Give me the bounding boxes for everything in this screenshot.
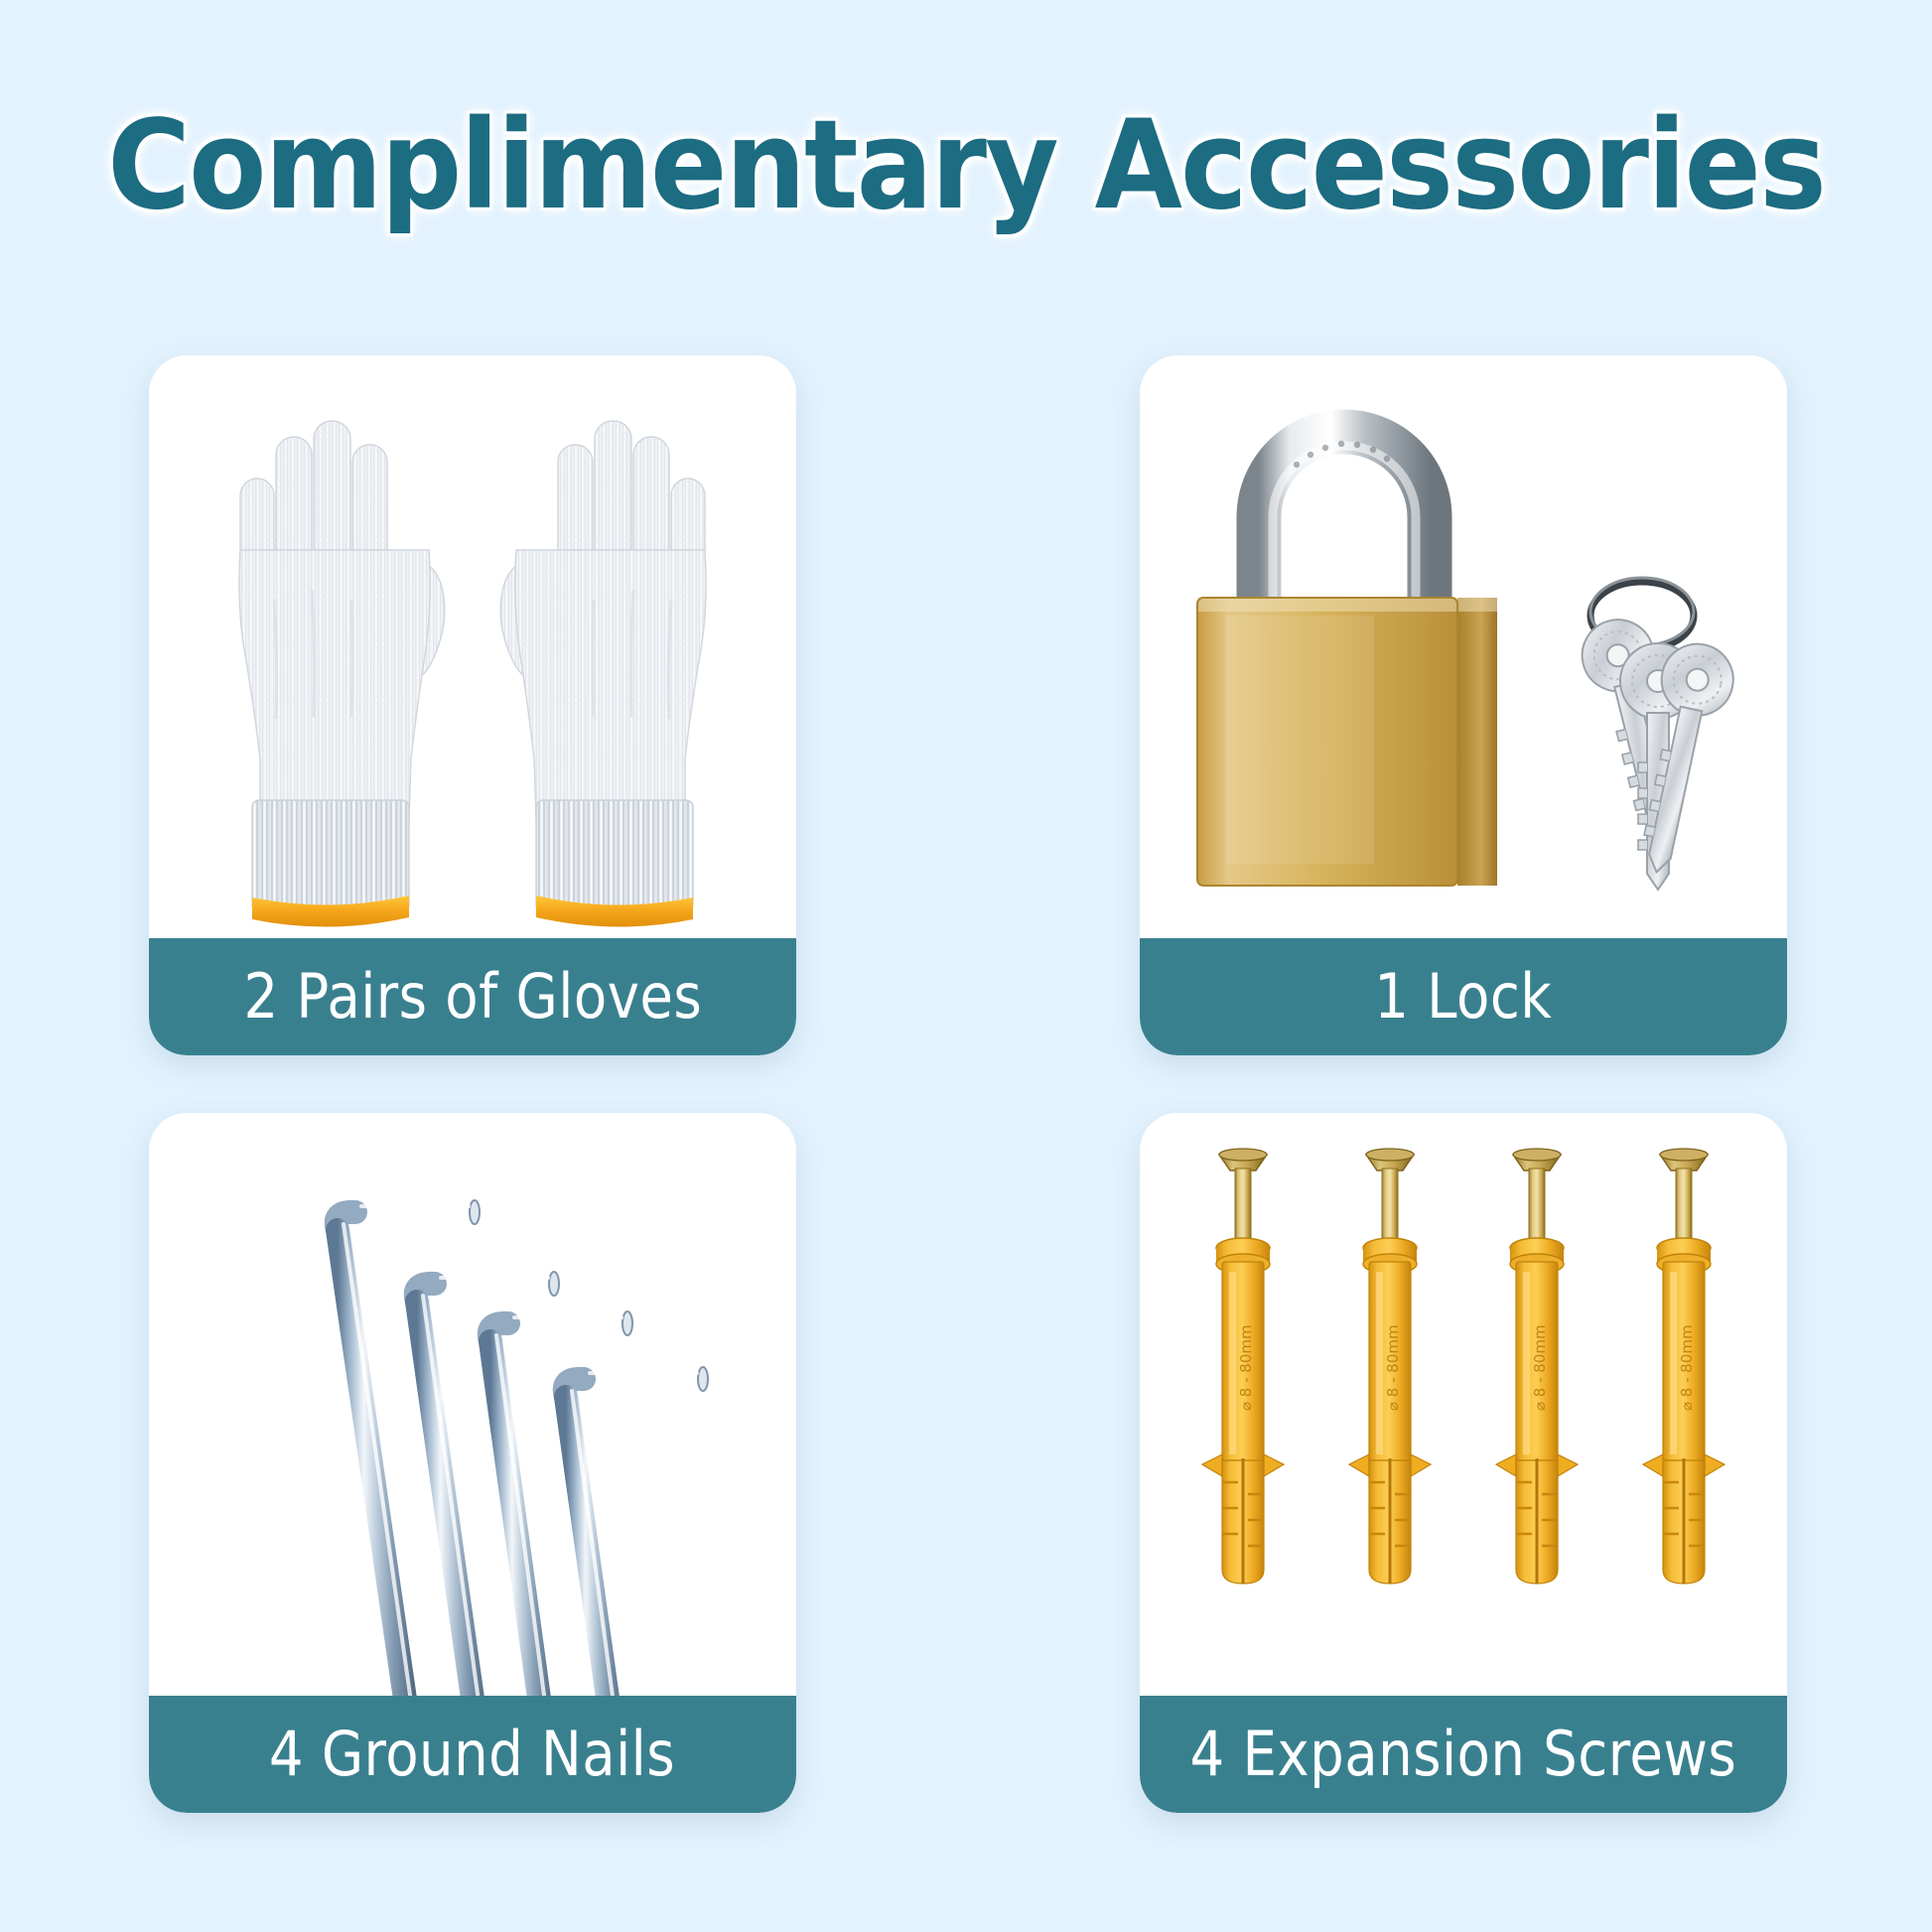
gloves-caption-text: 2 Pairs of Gloves — [243, 966, 702, 1028]
ground-nails-caption-bar: 4 Ground Nails — [149, 1696, 796, 1813]
expansion-screws-illustration: ⌀ 8 - 80mm ⌀ 8 - 80mm ⌀ 8 - 80mm ⌀ 8 - 8… — [1140, 1113, 1787, 1696]
expansion-screws-image: ⌀ 8 - 80mm ⌀ 8 - 80mm ⌀ 8 - 80mm ⌀ 8 - 8… — [1140, 1113, 1787, 1696]
anchor-marking-4: ⌀ 8 - 80mm — [1678, 1324, 1696, 1411]
ground-nails-caption-text: 4 Ground Nails — [269, 1724, 675, 1785]
padlock-illustration — [1140, 355, 1787, 938]
gloves-image — [149, 355, 796, 938]
gloves-caption-bar: 2 Pairs of Gloves — [149, 938, 796, 1055]
accessories-grid: 2 Pairs of Gloves — [149, 355, 1787, 1813]
lock-image — [1140, 355, 1787, 938]
lock-caption-bar: 1 Lock — [1140, 938, 1787, 1055]
accessory-card-lock[interactable]: 1 Lock — [1140, 355, 1787, 1055]
accessory-card-gloves[interactable]: 2 Pairs of Gloves — [149, 355, 796, 1055]
anchor-marking-2: ⌀ 8 - 80mm — [1384, 1324, 1402, 1411]
anchor-marking-3: ⌀ 8 - 80mm — [1531, 1324, 1549, 1411]
accessory-card-expansion-screws[interactable]: ⌀ 8 - 80mm ⌀ 8 - 80mm ⌀ 8 - 80mm ⌀ 8 - 8… — [1140, 1113, 1787, 1813]
lock-caption-text: 1 Lock — [1374, 966, 1552, 1028]
anchor-marking-1: ⌀ 8 - 80mm — [1237, 1324, 1255, 1411]
expansion-screws-caption-bar: 4 Expansion Screws — [1140, 1696, 1787, 1813]
gloves-illustration — [149, 355, 796, 938]
page-title: Complimentary Accessories — [107, 104, 1825, 227]
accessory-card-ground-nails[interactable]: 4 Ground Nails — [149, 1113, 796, 1813]
page-header: Complimentary Accessories — [0, 91, 1932, 240]
expansion-screws-caption-text: 4 Expansion Screws — [1190, 1724, 1737, 1785]
